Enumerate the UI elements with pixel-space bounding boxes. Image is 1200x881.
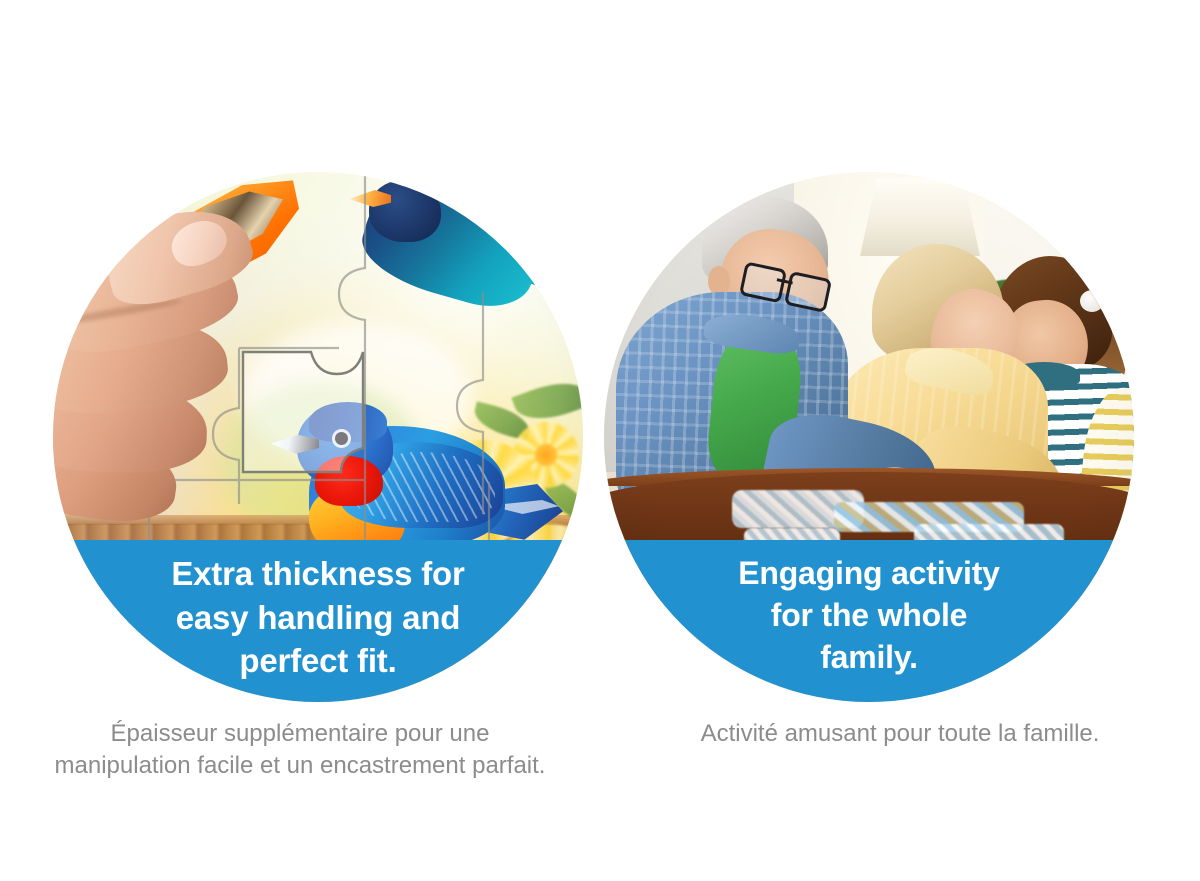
feature-circle-family: Engaging activity for the whole family.: [604, 172, 1134, 702]
feature-panel-family: Engaging activity for the whole family. …: [600, 0, 1200, 881]
feature-banner-family: Engaging activity for the whole family.: [604, 540, 1134, 702]
hand-holding-piece: [53, 180, 295, 510]
feature-banner-thickness: Extra thickness for easy handling and pe…: [53, 540, 583, 702]
feature-circle-thickness: Extra thickness for easy handling and pe…: [53, 172, 583, 702]
feature-banner-text: Engaging activity for the whole family.: [716, 552, 1022, 679]
feature-subcaption-thickness: Épaisseur supplémentaire pour une manipu…: [0, 718, 600, 781]
feature-callout-page: Extra thickness for easy handling and pe…: [0, 0, 1200, 881]
feature-subcaption-family: Activité amusant pour toute la famille.: [600, 718, 1200, 750]
feature-banner-text: Extra thickness for easy handling and pe…: [149, 552, 486, 683]
feature-panel-thickness: Extra thickness for easy handling and pe…: [0, 0, 600, 881]
